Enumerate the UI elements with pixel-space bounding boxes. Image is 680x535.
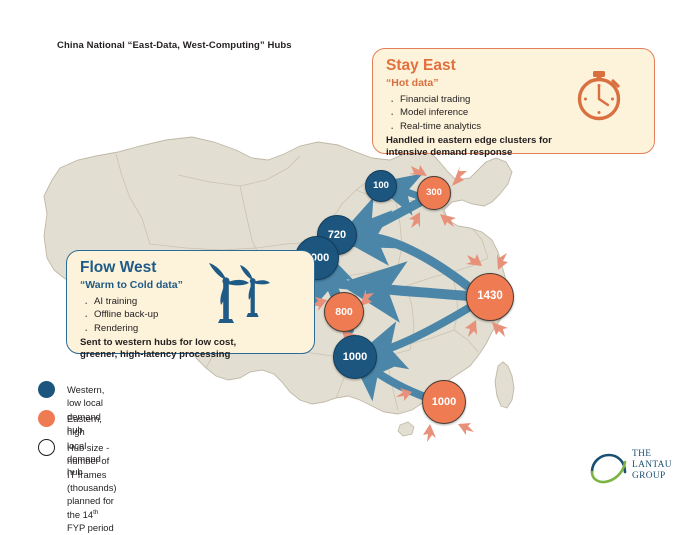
legend-label: Hub size - number of IT frames (thousand… <box>67 439 117 535</box>
hub-beijing-tianjin-hebei[interactable]: 300 <box>417 176 451 210</box>
callout-west-footer: Sent to western hubs for low cost, green… <box>80 337 260 362</box>
hub-value: 800 <box>335 307 353 318</box>
hub-value: 720 <box>328 230 346 241</box>
hub-inner-mongolia[interactable]: 100 <box>365 170 397 202</box>
slide-canvas: China National “East-Data, West-Computin… <box>0 0 680 494</box>
hub-value: 100 <box>373 181 389 191</box>
legend-swatch-eastern <box>38 410 55 427</box>
callout-flow-west: Flow West “Warm to Cold data” AI trainin… <box>66 250 315 354</box>
hub-value: 1000 <box>343 352 367 363</box>
hub-greater-bay-area[interactable]: 1000 <box>422 380 466 424</box>
legend-swatch-hub-size <box>38 439 55 456</box>
lantau-group-logo: THE LANTAU GROUP <box>588 447 674 487</box>
callout-east-bullets: Financial trading Model inference Real-t… <box>386 93 596 134</box>
legend-item-hub-size: Hub size - number of IT frames (thousand… <box>38 439 117 535</box>
callout-east-footer: Handled in eastern edge clusters for int… <box>386 135 596 160</box>
hub-value: 1000 <box>432 397 456 408</box>
hub-guizhou[interactable]: 1000 <box>333 335 377 379</box>
list-item: Financial trading <box>386 93 596 107</box>
hub-chengdu-chongqing[interactable]: 800 <box>324 292 364 332</box>
wind-turbine-icon <box>200 257 272 325</box>
hub-value: 1430 <box>477 291 503 303</box>
logo-line-group: GROUP <box>632 471 672 482</box>
stopwatch-icon <box>569 63 629 125</box>
callout-east-subtitle: “Hot data” <box>386 77 596 90</box>
legend-size-superscript: th <box>93 509 98 516</box>
page-title: China National “East-Data, West-Computin… <box>57 40 292 51</box>
logo-line-lantau: LANTAU <box>632 460 672 471</box>
callout-stay-east: Stay East “Hot data” Financial trading M… <box>372 48 655 154</box>
legend-swatch-western <box>38 381 55 398</box>
hub-yangtze-river-delta[interactable]: 1430 <box>466 273 514 321</box>
list-item: Real-time analytics <box>386 120 596 134</box>
list-item: Model inference <box>386 106 596 120</box>
legend-size-line2-pre: planned for the 14 <box>67 495 114 519</box>
logo-text: THE LANTAU GROUP <box>632 449 672 482</box>
logo-line-the: THE <box>632 449 672 460</box>
callout-east-title: Stay East <box>386 58 596 75</box>
legend-size-line2-post: FYP period <box>67 522 114 533</box>
legend-size-line1: Hub size - number of IT frames (thousand… <box>67 442 117 493</box>
hub-value: 300 <box>426 188 442 198</box>
